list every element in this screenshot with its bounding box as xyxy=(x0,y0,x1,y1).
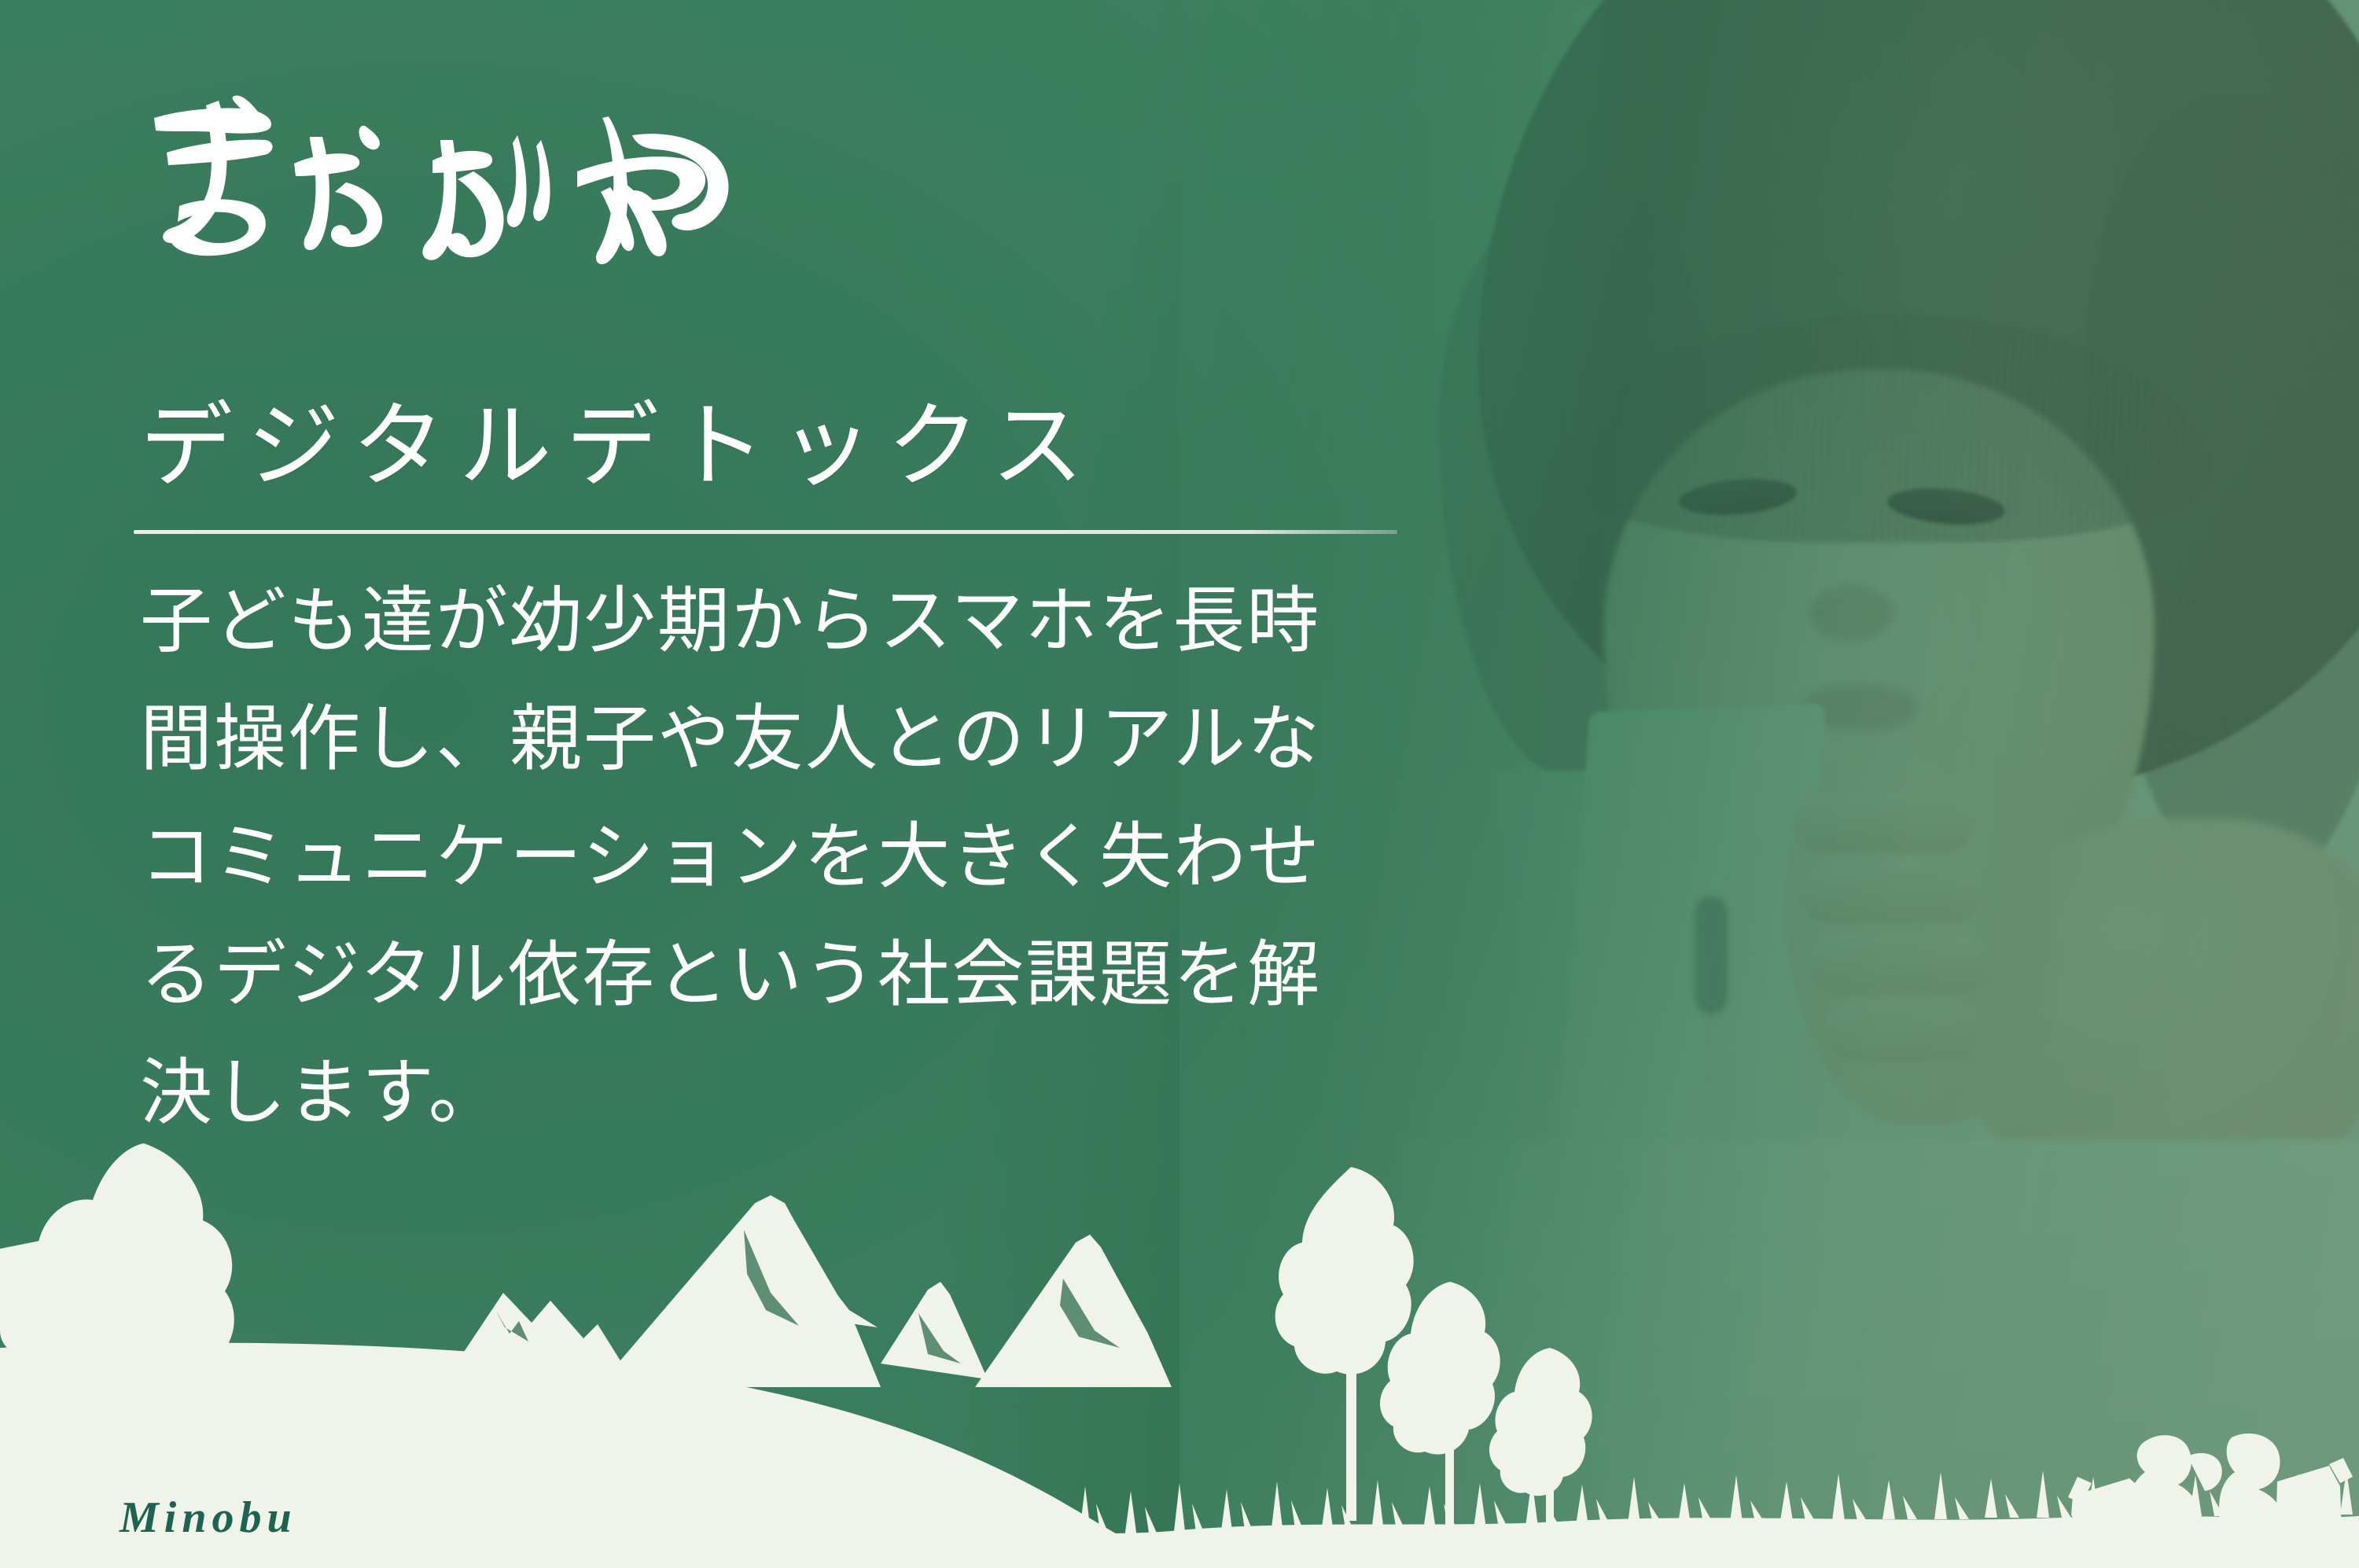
title-divider xyxy=(134,530,1397,534)
body-line: るデジタル依存という社会課題を解 xyxy=(140,917,1477,1035)
body-line: 間操作し、親子や友人とのリアルな xyxy=(140,681,1477,799)
body-line: 子ども達が幼少期からスマホを長時 xyxy=(140,563,1477,681)
manabiya-logo[interactable] xyxy=(140,88,761,285)
manabiya-brush-svg xyxy=(140,88,761,285)
body-line: コミュニケーションを大きく失わせ xyxy=(140,799,1477,917)
page-title: デジタルデトックス xyxy=(140,397,1414,497)
content-column: デジタルデトックス 子ども達が幼少期からスマホを長時 間操作し、親子や友人とのリ… xyxy=(0,0,1573,1568)
poster-canvas: デジタルデトックス 子ども達が幼少期からスマホを長時 間操作し、親子や友人とのリ… xyxy=(0,0,2359,1568)
body-line: 決します。 xyxy=(140,1035,1477,1153)
body-copy: 子ども達が幼少期からスマホを長時 間操作し、親子や友人とのリアルな コミュニケー… xyxy=(140,563,1477,1153)
place-label-minobu: Minobu xyxy=(120,1493,297,1543)
